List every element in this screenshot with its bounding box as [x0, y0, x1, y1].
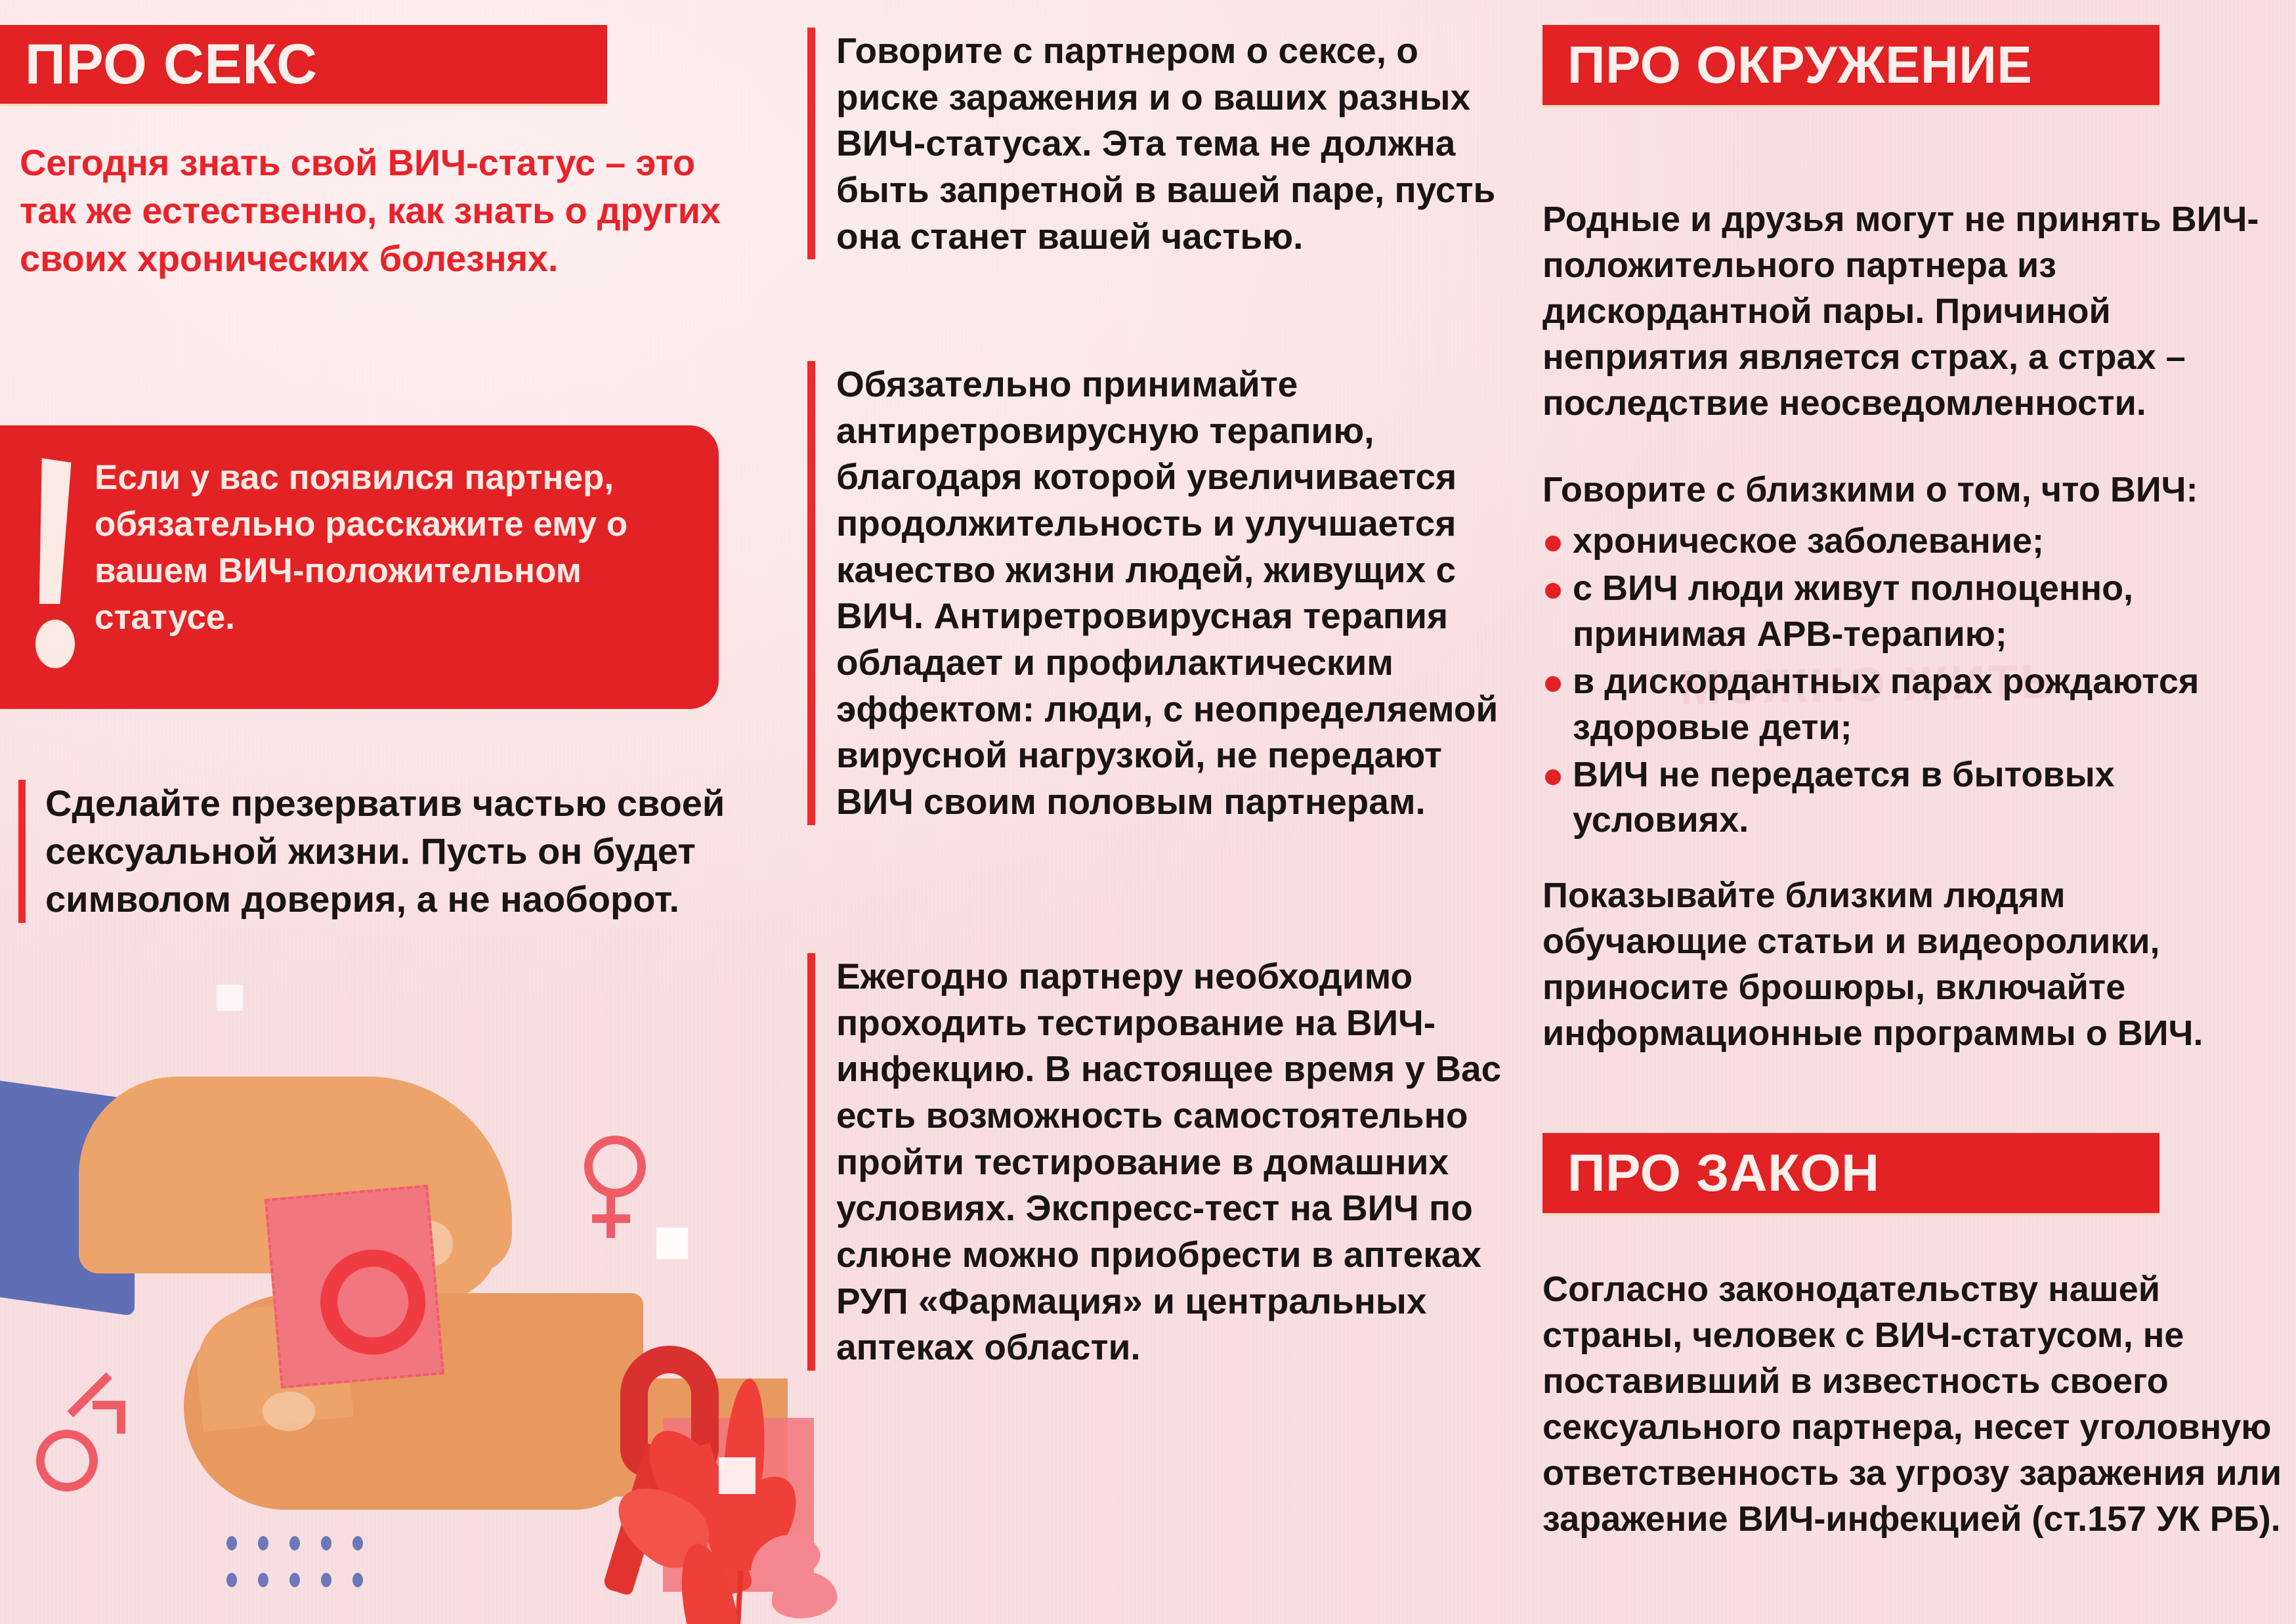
list-item: хроническое заболевание; [1542, 519, 2271, 565]
right-column: ПРО ОКРУЖЕНИЕ Родные и друзья могут не п… [1542, 0, 2296, 1624]
left-column: ПРО СЕКС Сегодня знать свой ВИЧ-статус –… [0, 0, 775, 1624]
paragraph-arv-therapy: Обязательно принимайте антиретровирусную… [807, 361, 1513, 825]
blue-dot-grid [226, 1536, 384, 1608]
quote-accent-bar [18, 780, 26, 923]
sparkle-icon [656, 1228, 688, 1259]
callout-text: Если у вас появился партнер, обязательно… [85, 454, 699, 641]
banner-pro-zakon-label: ПРО ЗАКОН [1567, 1143, 1879, 1203]
paragraph-criminal-liability: Согласно законодательству нашей страны, … [1542, 1267, 2291, 1543]
palm-highlight [263, 1392, 315, 1431]
paragraph-accent-bar [807, 361, 815, 825]
callout-partner-disclosure: Если у вас появился партнер, обязательно… [0, 425, 719, 709]
exclamation-mark-icon [26, 454, 85, 671]
lead-statement: Сегодня знать свой ВИЧ-статус – это так … [20, 139, 735, 282]
quote-condom-trust: Сделайте презерватив частью своей сексуа… [18, 780, 754, 923]
paragraph-annual-testing: Ежегодно партнеру необходимо проходить т… [807, 953, 1516, 1371]
paragraph-accent-bar [807, 953, 815, 1371]
bullets-intro: Говорите с близкими о том, что ВИЧ: [1542, 467, 2271, 513]
sparkle-icon [217, 985, 243, 1011]
paragraph-text: Ежегодно партнеру необходимо проходить т… [836, 953, 1516, 1371]
paragraph-accent-bar [807, 28, 815, 259]
hiv-facts-list: хроническое заболевание; с ВИЧ люди живу… [1542, 519, 2271, 844]
list-item: в дискордантных парах рождаются здоровые… [1542, 659, 2271, 751]
paragraph-text: Говорите с партнером о сексе, о риске за… [836, 28, 1513, 259]
list-item: ВИЧ не передается в бытовых условиях. [1542, 752, 2271, 844]
bullets-block: Говорите с близкими о том, что ВИЧ: хрон… [1542, 467, 2271, 845]
paragraph-family-acceptance: Родные и друзья могут не принять ВИЧ-пол… [1542, 197, 2284, 427]
banner-pro-zakon: ПРО ЗАКОН [1542, 1133, 2159, 1213]
banner-pro-seks: ПРО СЕКС [0, 25, 607, 104]
banner-pro-okruzhenie: ПРО ОКРУЖЕНИЕ [1542, 25, 2159, 105]
paragraph-talk-with-partner: Говорите с партнером о сексе, о риске за… [807, 28, 1513, 259]
condom-package-icon [265, 1185, 444, 1389]
banner-pro-okruzhenie-label: ПРО ОКРУЖЕНИЕ [1567, 35, 2032, 95]
middle-column: Говорите с партнером о сексе, о риске за… [807, 0, 1516, 1624]
hands-condom-illustration [0, 1011, 820, 1624]
female-gender-symbol-icon [584, 1136, 656, 1247]
male-gender-symbol-icon [36, 1398, 141, 1497]
banner-pro-seks-label: ПРО СЕКС [25, 32, 318, 97]
brochure-page: МОЖНО ЖИТЬ ПРО СЕКС Сегодня знать свой В… [0, 0, 2296, 1624]
sparkle-icon [719, 1457, 755, 1494]
paragraph-share-materials: Показывайте близким людям обучающие стат… [1542, 873, 2278, 1057]
quote-condom-text: Сделайте презерватив частью своей сексуа… [45, 780, 754, 923]
list-item: с ВИЧ люди живут полноценно, принимая АР… [1542, 566, 2271, 658]
paragraph-text: Обязательно принимайте антиретровирусную… [836, 361, 1513, 825]
